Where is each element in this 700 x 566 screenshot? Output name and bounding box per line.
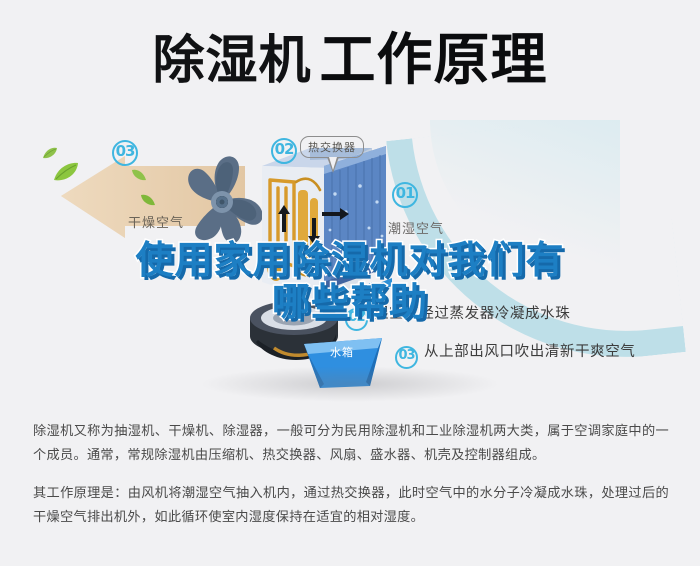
step-line-2: 02湿空气经过蒸发器冷凝成水珠 (345, 302, 570, 331)
body-paragraph-2: 其工作原理是：由风机将潮湿空气抽入机内，通过热交换器，此时空气中的水分子冷凝成水… (33, 482, 669, 530)
floor-shadow (200, 366, 500, 402)
step-text-3: 从上部出风口吹出清新干爽空气 (424, 344, 635, 360)
step-text-2: 湿空气经过蒸发器冷凝成水珠 (374, 306, 570, 322)
title-part-b: 工作原理 (320, 33, 548, 89)
dehumidifier-diagram: 01 02 03 热交换器 干燥空气 潮湿空气 水箱 02湿空气经过蒸发器冷凝成… (0, 118, 700, 403)
label-humid-air: 潮湿空气 (388, 218, 444, 237)
badge-02: 02 (271, 138, 297, 164)
body-text: 除湿机又称为抽湿机、干燥机、除湿器，一般可分为民用除湿机和工业除湿机两大类，属于… (33, 420, 669, 544)
label-water-tank: 水箱 (330, 344, 354, 360)
label-dry-air: 干燥空气 (128, 212, 184, 231)
page-title: 除湿机 工作原理 (0, 22, 700, 100)
badge-03: 03 (112, 140, 138, 166)
leaf-icon (42, 146, 58, 160)
title-part-a: 除湿机 (152, 35, 311, 87)
step-badge-03: 03 (395, 346, 418, 369)
step-badge-02: 02 (345, 308, 368, 331)
infographic-page: 除湿机 工作原理 (0, 0, 700, 566)
body-paragraph-1: 除湿机又称为抽湿机、干燥机、除湿器，一般可分为民用除湿机和工业除湿机两大类，属于… (33, 420, 669, 468)
badge-01: 01 (392, 182, 418, 208)
step-line-3: 03从上部出风口吹出清新干爽空气 (395, 340, 635, 369)
leaf-icon (53, 162, 79, 182)
heat-exchanger-callout: 热交换器 (300, 136, 364, 158)
leaf-icon (131, 168, 147, 182)
leaf-icon (140, 193, 156, 207)
